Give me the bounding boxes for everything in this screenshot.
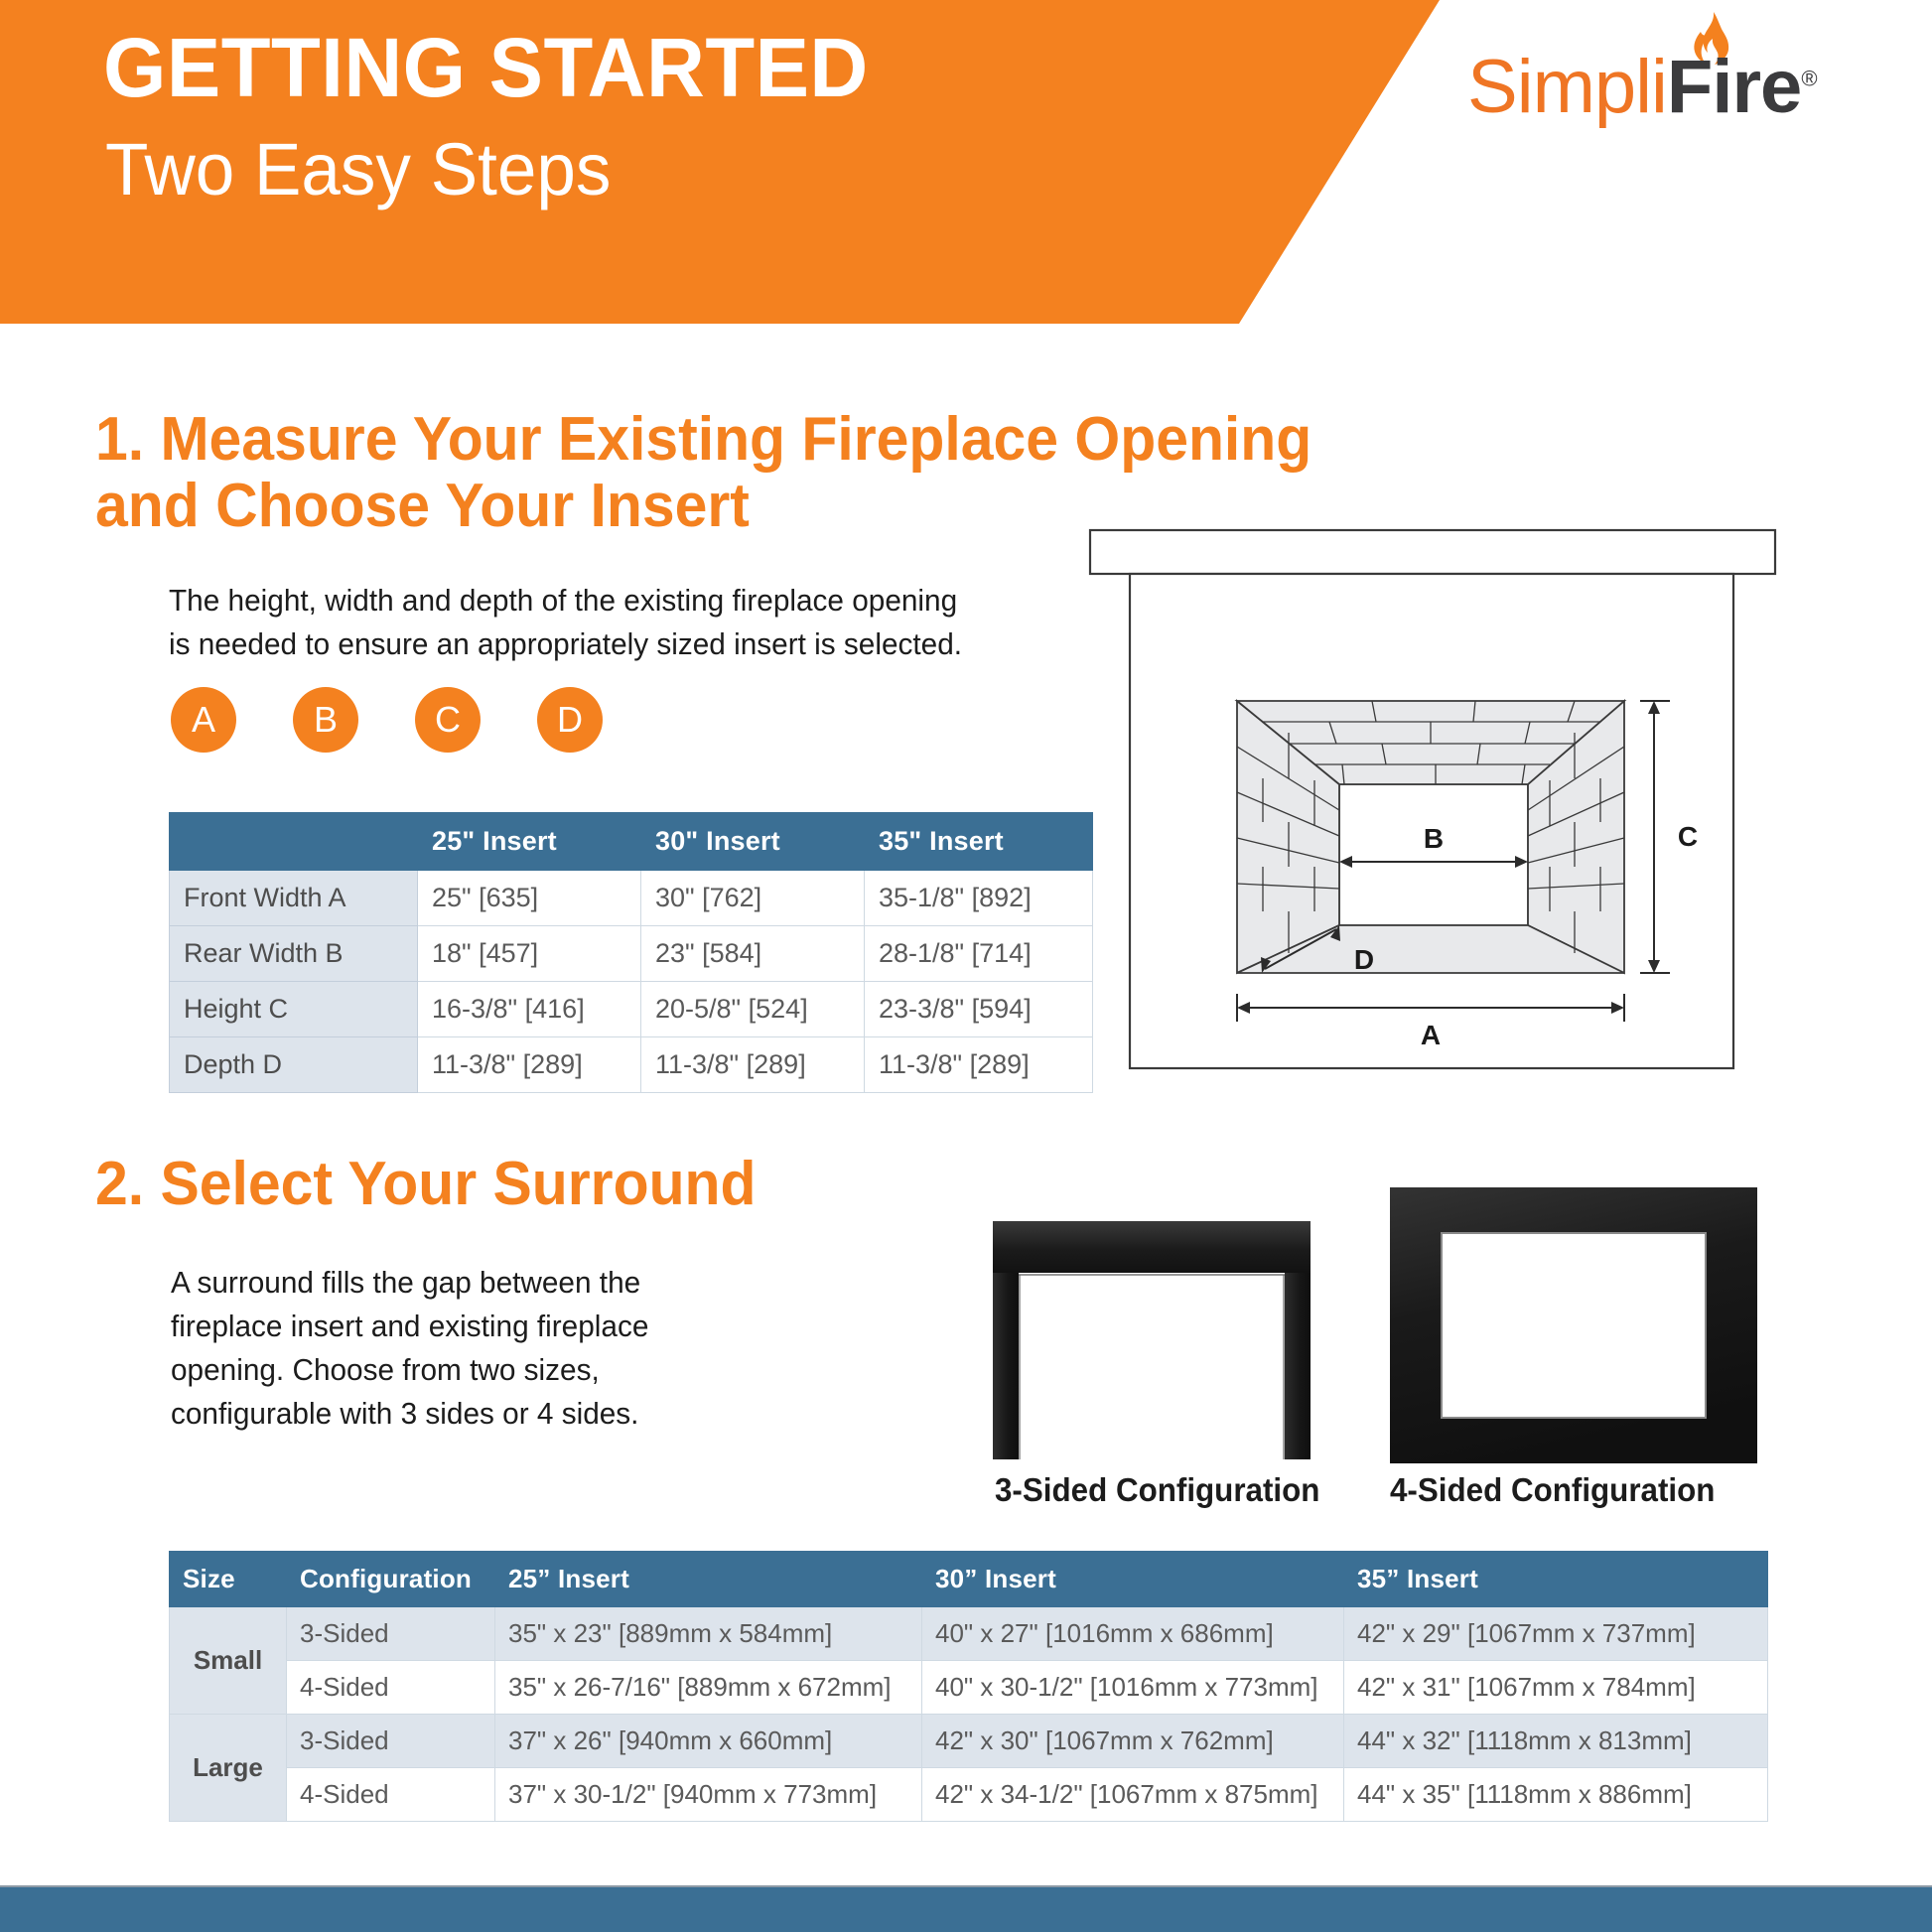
table1-row0-col1: 25" [635] xyxy=(418,871,641,926)
badge-b: B xyxy=(293,687,358,753)
table1-row2-col3: 23-3/8" [594] xyxy=(865,982,1093,1037)
table2-g1r0-col1: 37" x 26" [940mm x 660mm] xyxy=(495,1715,922,1768)
table-row: Height C 16-3/8" [416] 20-5/8" [524] 23-… xyxy=(170,982,1093,1037)
table1-row1-col3: 28-1/8" [714] xyxy=(865,926,1093,982)
table1-row3-col2: 11-3/8" [289] xyxy=(641,1037,865,1093)
table-row: 4-Sided 35" x 26-7/16" [889mm x 672mm] 4… xyxy=(170,1661,1768,1715)
table2-header-3: 30” Insert xyxy=(922,1552,1344,1607)
table2-g1r1-col1: 37" x 30-1/2" [940mm x 773mm] xyxy=(495,1768,922,1822)
table2-g0r1-col2: 40" x 30-1/2" [1016mm x 773mm] xyxy=(922,1661,1344,1715)
table2-g1r1-config: 4-Sided xyxy=(287,1768,495,1822)
table1-header-0 xyxy=(170,813,418,871)
dimension-a-label: A xyxy=(1421,1020,1441,1050)
table-row: Large 3-Sided 37" x 26" [940mm x 660mm] … xyxy=(170,1715,1768,1768)
table2-g0r0-config: 3-Sided xyxy=(287,1607,495,1661)
badge-a: A xyxy=(171,687,236,753)
table-header-row: 25" Insert 30" Insert 35" Insert xyxy=(170,813,1093,871)
dimension-b-label: B xyxy=(1424,823,1444,854)
table2-g0r0-col2: 40" x 27" [1016mm x 686mm] xyxy=(922,1607,1344,1661)
table1-row0-col2: 30" [762] xyxy=(641,871,865,926)
table1-row3-col3: 11-3/8" [289] xyxy=(865,1037,1093,1093)
registered-mark-icon: ® xyxy=(1801,67,1817,91)
table1-header-3: 35" Insert xyxy=(865,813,1093,871)
table2-size-large: Large xyxy=(170,1715,287,1822)
page-subtitle: Two Easy Steps xyxy=(105,133,611,207)
table1-row2-col2: 20-5/8" [524] xyxy=(641,982,865,1037)
table1-header-1: 25" Insert xyxy=(418,813,641,871)
logo-fire-text: Fire xyxy=(1667,45,1801,129)
fireplace-measurement-diagram: B C A D xyxy=(1088,524,1833,1070)
surround-4-sided-caption: 4-Sided Configuration xyxy=(1390,1471,1715,1509)
table2-header-2: 25” Insert xyxy=(495,1552,922,1607)
table1-row1-col1: 18" [457] xyxy=(418,926,641,982)
table1-header-2: 30" Insert xyxy=(641,813,865,871)
mantel-shelf xyxy=(1090,530,1775,574)
table1-row2-col1: 16-3/8" [416] xyxy=(418,982,641,1037)
table-row: Small 3-Sided 35" x 23" [889mm x 584mm] … xyxy=(170,1607,1768,1661)
table1-row0-label: Front Width A xyxy=(170,871,418,926)
dimension-c-label: C xyxy=(1678,821,1698,852)
table1-row1-col2: 23" [584] xyxy=(641,926,865,982)
table1-row3-label: Depth D xyxy=(170,1037,418,1093)
dimension-d-label: D xyxy=(1354,944,1374,975)
getting-started-page: GETTING STARTED Two Easy Steps SimpliFir… xyxy=(0,0,1932,1932)
badge-d: D xyxy=(537,687,603,753)
logo-simpli-text: Simpli xyxy=(1467,45,1667,129)
table2-header-0: Size xyxy=(170,1552,287,1607)
table1-row0-col3: 35-1/8" [892] xyxy=(865,871,1093,926)
insert-dimensions-table: 25" Insert 30" Insert 35" Insert Front W… xyxy=(169,812,1093,1093)
table2-g0r1-config: 4-Sided xyxy=(287,1661,495,1715)
step2-heading: 2. Select Your Surround xyxy=(95,1152,757,1218)
surround-3-sided-caption: 3-Sided Configuration xyxy=(995,1471,1319,1509)
logo-wordmark: SimpliFire® xyxy=(1467,50,1818,125)
table-header-row: Size Configuration 25” Insert 30” Insert… xyxy=(170,1552,1768,1607)
footer-bar xyxy=(0,1885,1932,1932)
simplifire-logo: SimpliFire® xyxy=(1467,18,1864,127)
table-row: 4-Sided 37" x 30-1/2" [940mm x 773mm] 42… xyxy=(170,1768,1768,1822)
table2-size-small: Small xyxy=(170,1607,287,1715)
surround-3-sided-image xyxy=(993,1221,1311,1459)
table1-row2-label: Height C xyxy=(170,982,418,1037)
table-row: Front Width A 25" [635] 30" [762] 35-1/8… xyxy=(170,871,1093,926)
table2-g1r0-config: 3-Sided xyxy=(287,1715,495,1768)
table-row: Rear Width B 18" [457] 23" [584] 28-1/8"… xyxy=(170,926,1093,982)
step2-description: A surround fills the gap between the fir… xyxy=(171,1261,743,1436)
surround-sizes-table: Size Configuration 25” Insert 30” Insert… xyxy=(169,1551,1768,1822)
table2-g0r1-col1: 35" x 26-7/16" [889mm x 672mm] xyxy=(495,1661,922,1715)
step1-description: The height, width and depth of the exist… xyxy=(169,579,1074,666)
table2-g1r0-col3: 44" x 32" [1118mm x 813mm] xyxy=(1344,1715,1768,1768)
step1-heading: 1. Measure Your Existing Fireplace Openi… xyxy=(95,407,1311,540)
badge-c: C xyxy=(415,687,481,753)
table2-g0r0-col3: 42" x 29" [1067mm x 737mm] xyxy=(1344,1607,1768,1661)
table2-g0r1-col3: 42" x 31" [1067mm x 784mm] xyxy=(1344,1661,1768,1715)
table2-g1r1-col3: 44" x 35" [1118mm x 886mm] xyxy=(1344,1768,1768,1822)
table1-row1-label: Rear Width B xyxy=(170,926,418,982)
measurement-badges: A B C D xyxy=(171,687,603,753)
table1-row3-col1: 11-3/8" [289] xyxy=(418,1037,641,1093)
table2-g1r0-col2: 42" x 30" [1067mm x 762mm] xyxy=(922,1715,1344,1768)
surround-4-sided-image xyxy=(1390,1187,1757,1463)
table2-g0r0-col1: 35" x 23" [889mm x 584mm] xyxy=(495,1607,922,1661)
table2-header-1: Configuration xyxy=(287,1552,495,1607)
page-title: GETTING STARTED xyxy=(103,26,869,109)
table2-g1r1-col2: 42" x 34-1/2" [1067mm x 875mm] xyxy=(922,1768,1344,1822)
table-row: Depth D 11-3/8" [289] 11-3/8" [289] 11-3… xyxy=(170,1037,1093,1093)
table2-header-4: 35” Insert xyxy=(1344,1552,1768,1607)
